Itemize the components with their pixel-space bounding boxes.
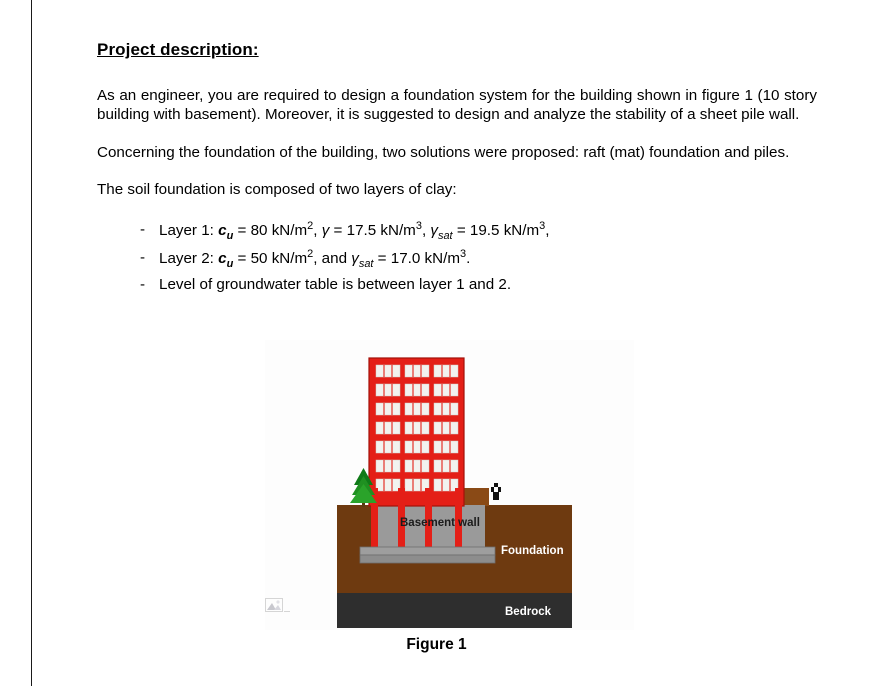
- layer-1-gamma-trail: ,: [422, 222, 426, 239]
- list-item-layer-2: - Layer 2: cu = 50 kN/m2, and γsat = 17.…: [140, 246, 817, 274]
- layer-1-cu-value: = 80 kN/m: [238, 222, 308, 239]
- broken-image-placeholder-icon: [265, 598, 291, 614]
- symbol-cu: c: [218, 222, 226, 239]
- page-left-rule: [31, 0, 32, 686]
- layer-2-cu: cu = 50 kN/m2, and: [218, 250, 351, 267]
- layer-2-cu-trail: , and: [313, 250, 347, 267]
- building-cross-section-diagram: Basement wall Foundation Bedrock: [265, 340, 634, 630]
- layer-1-cu: cu = 80 kN/m2,: [218, 222, 322, 239]
- figure-caption: Figure 1: [0, 636, 873, 654]
- layer-1-label: Layer 1:: [159, 222, 214, 239]
- paragraph-intro: As an engineer, you are required to desi…: [97, 86, 817, 125]
- paragraph-soil-intro: The soil foundation is composed of two l…: [97, 180, 817, 199]
- layer-1-gamma: γ = 17.5 kN/m3,: [322, 222, 431, 239]
- bedrock-label: Bedrock: [505, 606, 552, 618]
- basement-wall-label: Basement wall: [400, 517, 480, 529]
- foundation-label: Foundation: [501, 545, 564, 557]
- symbol-gamma-sat: γ: [430, 222, 438, 239]
- layer-2-gamma-sat-value: = 17.0 kN/m: [378, 250, 460, 267]
- document-content: Project description: As an engineer, you…: [97, 40, 817, 298]
- symbol-gamma-sat-subscript: sat: [438, 230, 453, 242]
- list-bullet-dash: -: [140, 218, 145, 243]
- layer-2-gamma-sat-trail: .: [466, 250, 470, 267]
- groundwater-text: Level of groundwater table is between la…: [159, 276, 511, 293]
- symbol-cu-subscript: u: [227, 258, 234, 270]
- document-page: Project description: As an engineer, you…: [0, 0, 873, 686]
- symbol-gamma: γ: [322, 222, 330, 239]
- layer-2-gamma-sat: γsat = 17.0 kN/m3.: [351, 250, 470, 267]
- layer-1-gamma-value: = 17.5 kN/m: [334, 222, 416, 239]
- symbol-cu: c: [218, 250, 226, 267]
- layer-2-label: Layer 2:: [159, 250, 214, 267]
- building-windows: [376, 365, 458, 491]
- foundation-slab: [360, 547, 495, 563]
- list-bullet-dash: -: [140, 246, 145, 271]
- list-item-layer-1: - Layer 1: cu = 80 kN/m2, γ = 17.5 kN/m3…: [140, 218, 817, 246]
- paragraph-foundation-solutions: Concerning the foundation of the buildin…: [97, 143, 817, 162]
- soil-properties-list: - Layer 1: cu = 80 kN/m2, γ = 17.5 kN/m3…: [97, 218, 817, 298]
- figure-1-image: Basement wall Foundation Bedrock: [265, 340, 634, 630]
- list-bullet-dash: -: [140, 273, 145, 298]
- layer-1-cu-trail: ,: [313, 222, 317, 239]
- layer-1-gamma-sat-value: = 19.5 kN/m: [457, 222, 539, 239]
- symbol-gamma-sat-subscript: sat: [359, 258, 374, 270]
- layer-2-cu-value: = 50 kN/m: [238, 250, 308, 267]
- figure-caption-text: Figure 1: [406, 636, 466, 654]
- layer-1-gamma-sat-trail: ,: [545, 222, 549, 239]
- page-title: Project description:: [97, 40, 817, 60]
- layer-1-gamma-sat: γsat = 19.5 kN/m3,: [430, 222, 549, 239]
- symbol-gamma-sat: γ: [351, 250, 359, 267]
- list-item-groundwater: - Level of groundwater table is between …: [140, 273, 817, 298]
- symbol-cu-subscript: u: [227, 230, 234, 242]
